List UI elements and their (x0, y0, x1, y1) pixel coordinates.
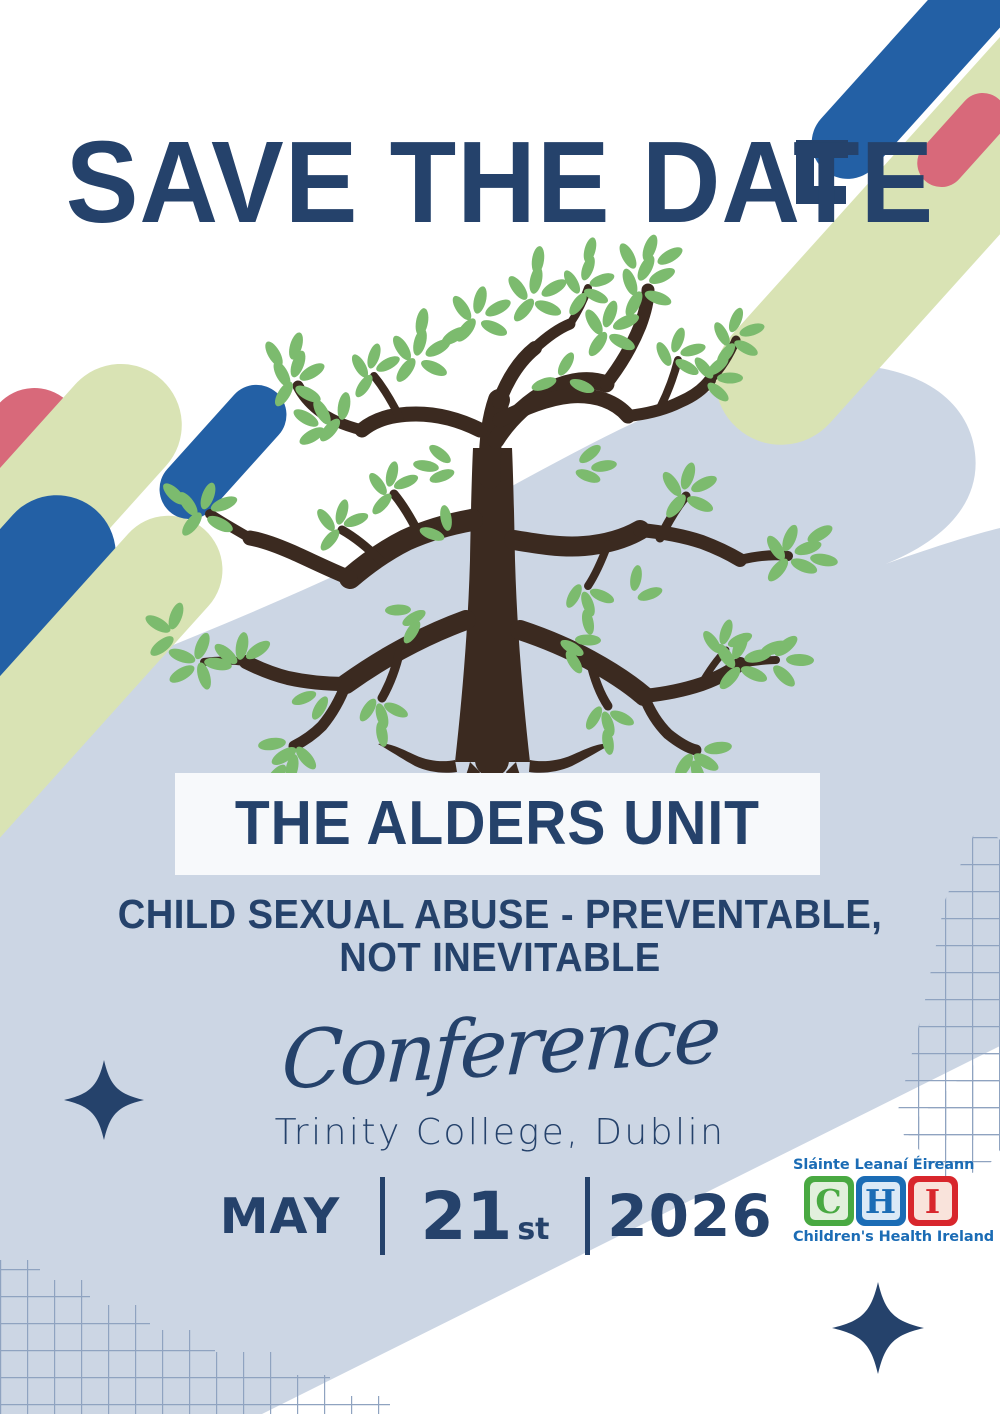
date-month: MAY (220, 1188, 340, 1245)
subtitle-line-2: NOT INEVITABLE (35, 936, 965, 979)
conference-subtitle: CHILD SEXUAL ABUSE - PREVENTABLE, NOT IN… (0, 893, 1000, 980)
chi-block-h-letter: H (862, 1182, 900, 1220)
save-the-date-poster: SAVE THE DATE THE ALDERS UNIT CHILD SEXU… (0, 0, 1000, 1414)
date-year-cell: 2026 (590, 1182, 790, 1250)
event-date-row: MAY 21 st 2026 (180, 1172, 790, 1260)
unit-title: THE ALDERS UNIT (235, 793, 760, 855)
date-day-cell: 21 st (385, 1178, 585, 1255)
chi-tagline-english: Children's Health Ireland (793, 1229, 968, 1245)
chi-logo: Sláinte Leanaí Éireann C H I Children's … (793, 1157, 968, 1245)
chi-block-c: C (804, 1176, 854, 1226)
chi-letter-blocks: C H I (793, 1176, 968, 1226)
chi-block-i-letter: I (914, 1182, 952, 1220)
date-year: 2026 (607, 1182, 772, 1250)
unit-title-band: THE ALDERS UNIT (175, 773, 820, 875)
page-title: SAVE THE DATE (30, 124, 970, 240)
date-month-cell: MAY (180, 1188, 380, 1245)
chi-block-c-letter: C (810, 1182, 848, 1220)
chi-block-h: H (856, 1176, 906, 1226)
chi-block-i: I (908, 1176, 958, 1226)
date-day: 21 (420, 1178, 512, 1255)
date-ordinal: st (517, 1212, 549, 1247)
venue-location: Trinity College, Dublin (0, 1112, 1000, 1153)
chi-tagline-irish: Sláinte Leanaí Éireann (793, 1157, 968, 1173)
subtitle-line-1: CHILD SEXUAL ABUSE - PREVENTABLE, (35, 893, 965, 936)
